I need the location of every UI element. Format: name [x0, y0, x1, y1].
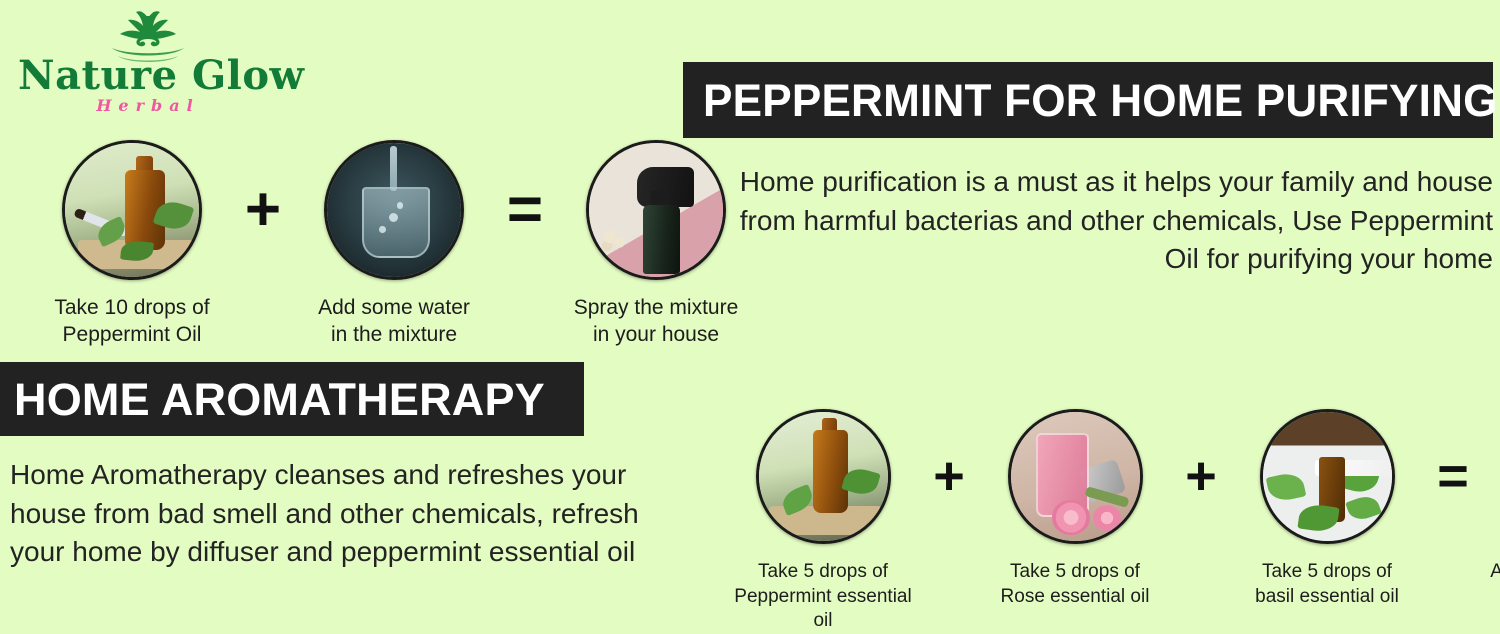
recipe-step: Add the oil mixture in water diffuser — [1481, 409, 1500, 609]
equals-operator-icon: = — [494, 140, 556, 280]
amber-oil-bottle-with-mint-photo — [62, 140, 202, 280]
recipe-step: Take 10 drops of Peppermint Oil — [32, 140, 232, 349]
equals-operator-icon: = — [1425, 409, 1481, 543]
recipe-step: Add some water in the mixture — [294, 140, 494, 349]
step-caption: Add some water in the mixture — [294, 294, 494, 349]
step-caption: Add the oil mixture in water diffuser — [1481, 560, 1500, 609]
plus-operator-icon: + — [921, 409, 977, 543]
plus-operator-icon: + — [232, 140, 294, 280]
step-caption: Take 5 drops of Rose essential oil — [977, 560, 1173, 609]
glass-of-water-pouring-photo — [324, 140, 464, 280]
peppermint-essential-oil-bottle-photo — [756, 409, 891, 544]
purifying-paragraph: Home purification is a must as it helps … — [700, 163, 1493, 279]
recipe-step: Take 5 drops of basil essential oil — [1229, 409, 1425, 609]
step-caption: Spray the mixture in your house — [556, 294, 756, 349]
dark-green-spray-bottle-photo — [586, 140, 726, 280]
recipe-step: Take 5 drops of Rose essential oil — [977, 409, 1173, 609]
step-caption: Take 10 drops of Peppermint Oil — [32, 294, 232, 349]
aromatherapy-paragraph: Home Aromatherapy cleanses and refreshes… — [10, 456, 655, 572]
rose-petals-jar-photo — [1008, 409, 1143, 544]
basil-essential-oil-bottle-photo — [1260, 409, 1395, 544]
purifying-title-bar: PEPPERMINT FOR HOME PURIFYING — [683, 62, 1493, 138]
purifying-recipe-row: Take 10 drops of Peppermint Oil + Add so… — [32, 140, 756, 349]
infographic-canvas: Nature Glow Herbal PEPPERMINT FOR HOME P… — [0, 0, 1500, 611]
plus-operator-icon: + — [1173, 409, 1229, 543]
step-caption: Take 5 drops of basil essential oil — [1229, 560, 1425, 609]
logo-wordmark: Nature Glow — [18, 56, 278, 96]
recipe-step: Take 5 drops of Peppermint essential oil — [725, 409, 921, 634]
logo-subtitle: Herbal — [18, 98, 278, 114]
step-caption: Take 5 drops of Peppermint essential oil — [725, 560, 921, 634]
brand-logo: Nature Glow Herbal — [18, 8, 278, 120]
aromatherapy-title-bar: HOME AROMATHERAPY — [0, 362, 584, 436]
purifying-title-text: PEPPERMINT FOR HOME PURIFYING — [703, 78, 1498, 123]
aromatherapy-title-text: HOME AROMATHERAPY — [14, 377, 545, 422]
recipe-step: Spray the mixture in your house — [556, 140, 756, 349]
aromatherapy-recipe-row: Take 5 drops of Peppermint essential oil… — [725, 409, 1500, 634]
